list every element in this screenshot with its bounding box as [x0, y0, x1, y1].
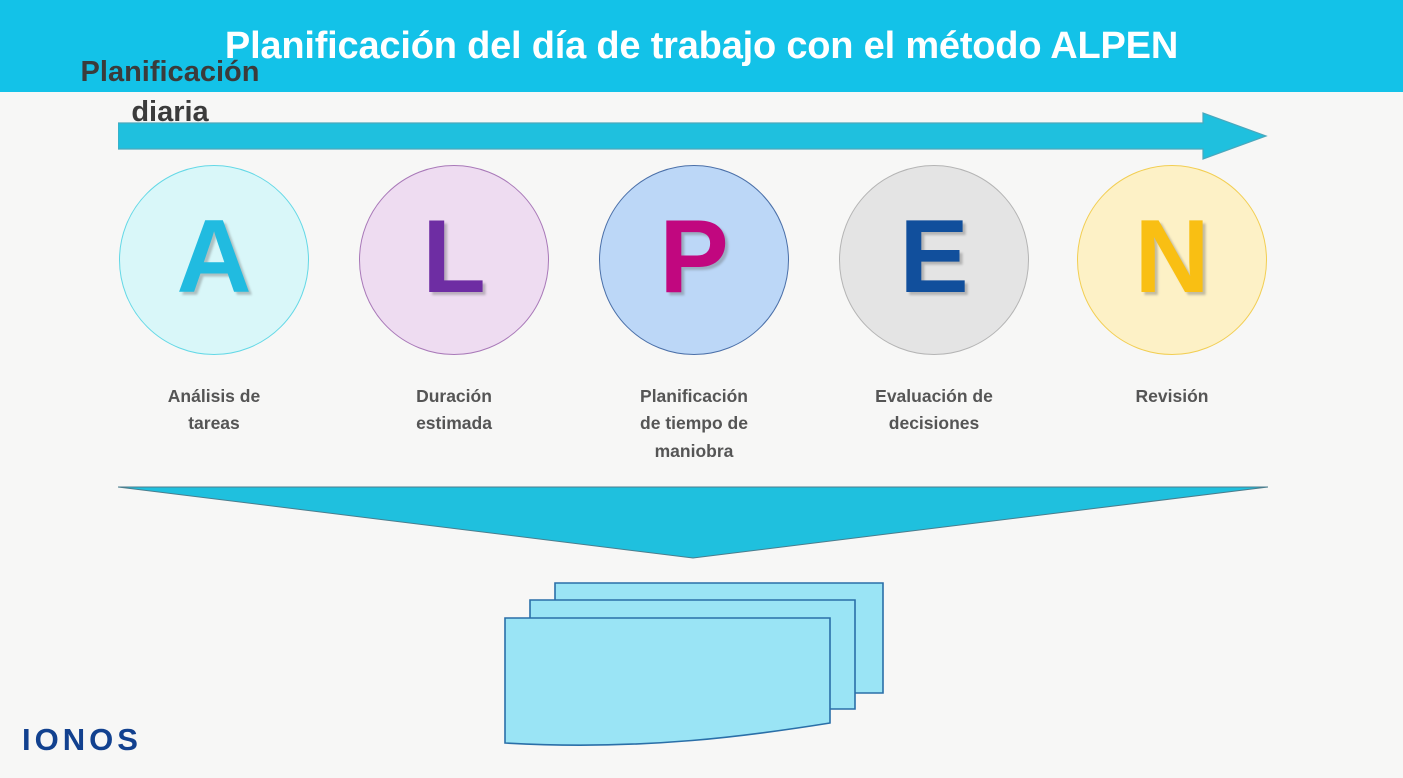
- step-n-letter: N: [1134, 205, 1209, 309]
- convergence-funnel: [118, 484, 1268, 564]
- step-l-label: Duración estimada: [334, 383, 574, 438]
- step-a-circle: A: [119, 165, 309, 355]
- step-p[interactable]: P Planificación de tiempo de maniobra: [574, 165, 814, 465]
- step-p-letter: P: [659, 205, 728, 309]
- step-e-circle: E: [839, 165, 1029, 355]
- page-title: Planificación del día de trabajo con el …: [0, 0, 1403, 92]
- infographic-canvas: Planificación del día de trabajo con el …: [0, 0, 1403, 778]
- step-p-circle: P: [599, 165, 789, 355]
- step-p-label: Planificación de tiempo de maniobra: [574, 383, 814, 465]
- step-e-letter: E: [899, 205, 968, 309]
- step-l-letter: L: [422, 205, 486, 309]
- card-sheet-front: [505, 618, 830, 745]
- ionos-logo: IONOS: [22, 722, 142, 758]
- step-a-label: Análisis de tareas: [94, 383, 334, 438]
- step-n[interactable]: N Revisión: [1052, 165, 1292, 410]
- step-e-label: Evaluación de decisiones: [814, 383, 1054, 438]
- result-card-stack[interactable]: [495, 575, 895, 750]
- step-a[interactable]: A Análisis de tareas: [94, 165, 334, 438]
- step-a-letter: A: [176, 205, 251, 309]
- process-flow-arrow: [118, 110, 1268, 162]
- step-n-circle: N: [1077, 165, 1267, 355]
- step-l[interactable]: L Duración estimada: [334, 165, 574, 438]
- step-e[interactable]: E Evaluación de decisiones: [814, 165, 1054, 438]
- step-n-label: Revisión: [1052, 383, 1292, 410]
- step-l-circle: L: [359, 165, 549, 355]
